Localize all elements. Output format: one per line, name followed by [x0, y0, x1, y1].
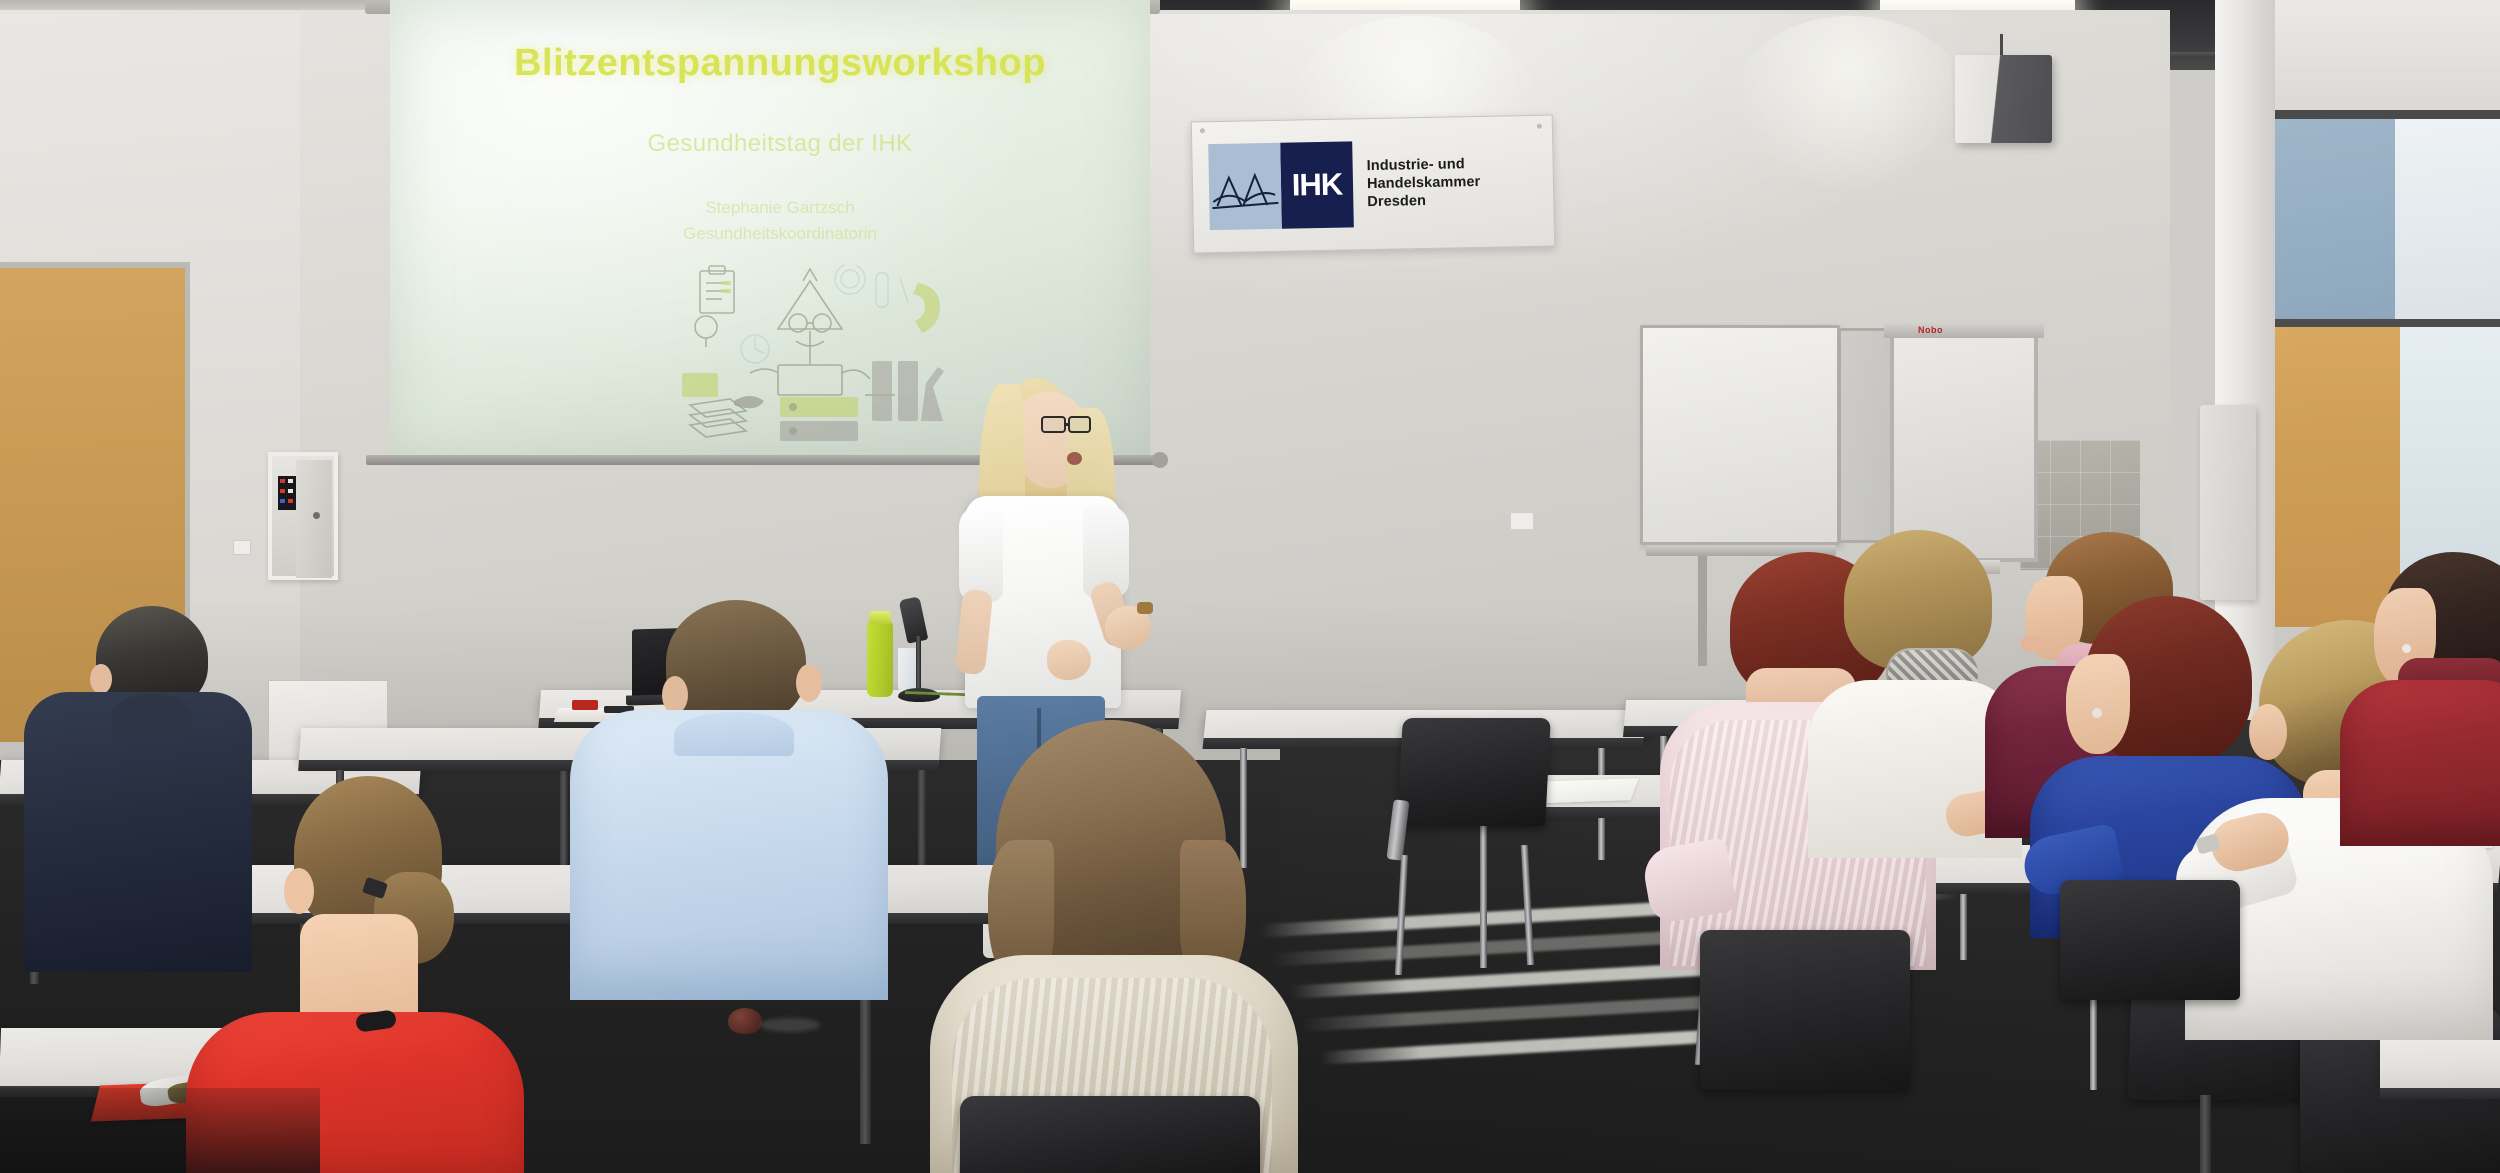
participant-ear — [90, 664, 112, 694]
wall-spotlight-2 — [1730, 16, 1970, 196]
slide-presenter-name: Stephanie Gartzsch — [430, 195, 1130, 221]
ihk-sign-text: Industrie- und Handelskammer Dresden — [1352, 138, 1540, 228]
participant-collar — [674, 712, 794, 756]
whiteboard — [1640, 325, 1840, 545]
partition-mullion-top — [2275, 110, 2500, 119]
partition-header — [2275, 0, 2500, 110]
slide-subtitle: Gesundheitstag der IHK — [430, 130, 1130, 158]
participant-ear — [284, 868, 314, 914]
table-leg — [1480, 818, 1487, 968]
partition-pane-blue — [2275, 119, 2395, 319]
partition-mullion-mid — [2275, 319, 2500, 327]
flipchart-clamp — [1884, 322, 2044, 338]
ihk-logo-mark: IHK — [1280, 141, 1354, 228]
drinking-glass — [898, 648, 918, 692]
ihk-wall-sign: IHK Industrie- und Handelskammer Dresden — [1191, 115, 1555, 254]
partition-pane-bright — [2395, 119, 2500, 319]
object-shadow — [760, 1018, 820, 1032]
speaker-icon-wall — [2200, 405, 2256, 600]
participant-hair — [666, 600, 806, 724]
chair-behind-participant[interactable] — [1700, 930, 1910, 1090]
flipchart-brand-label: Nobo — [1918, 325, 1943, 335]
microphone-stand — [916, 636, 921, 696]
glasses-icon — [1068, 416, 1091, 433]
wall-socket-left — [233, 540, 251, 555]
participant-ear — [662, 676, 688, 714]
wall-socket-right — [1510, 512, 1534, 530]
chair-behind-participant[interactable] — [2060, 880, 2240, 1000]
speaker-icon-ceiling — [1955, 55, 2052, 143]
slide-presenter-role: Gesundheitskoordinatorin — [430, 221, 1130, 247]
slide-illustration-icon — [660, 265, 990, 455]
bridge-icon — [1208, 143, 1282, 230]
participant-collar — [112, 694, 192, 734]
flipchart-board — [1890, 330, 2038, 562]
wristwatch-icon — [1137, 602, 1153, 614]
participant-blue-shirt — [570, 600, 890, 990]
earring-icon — [2402, 644, 2411, 653]
glasses-icon — [1041, 416, 1066, 433]
participant-ear — [2249, 704, 2287, 760]
control-panel-lock-icon[interactable] — [313, 512, 320, 519]
ihk-org-line2: Dresden — [1367, 190, 1539, 211]
participant-dark-red — [2340, 552, 2500, 842]
foreground-shadow — [0, 1088, 320, 1173]
small-object-on-table — [728, 1008, 762, 1034]
presenter-hand-left — [1047, 640, 1091, 680]
participant-face-profile — [2066, 654, 2130, 754]
table-foreground-right — [2380, 1040, 2500, 1090]
participant-ear — [796, 664, 822, 702]
chair-leg — [2200, 1095, 2211, 1173]
slide-title: Blitzentspannungsworkshop — [430, 42, 1130, 85]
control-panel-cabinet[interactable] — [268, 452, 338, 580]
presenter-sleeve-left — [959, 506, 1003, 602]
slide-presenter-block: Stephanie Gartzsch Gesundheitskoordinato… — [430, 195, 1130, 248]
presenter-mouth — [1067, 452, 1082, 465]
ihk-org-line1: Industrie- und Handelskammer — [1366, 154, 1539, 194]
chair-behind-participant[interactable] — [960, 1096, 1260, 1173]
classroom-photo-scene: Blitzentspannungsworkshop Gesundheitstag… — [0, 0, 2500, 1173]
participant-sweater — [2340, 680, 2500, 846]
control-panel-door[interactable] — [296, 460, 332, 578]
chair-empty[interactable] — [1397, 718, 1551, 826]
glasses-bridge — [1065, 423, 1070, 426]
earring-icon — [2092, 708, 2102, 718]
